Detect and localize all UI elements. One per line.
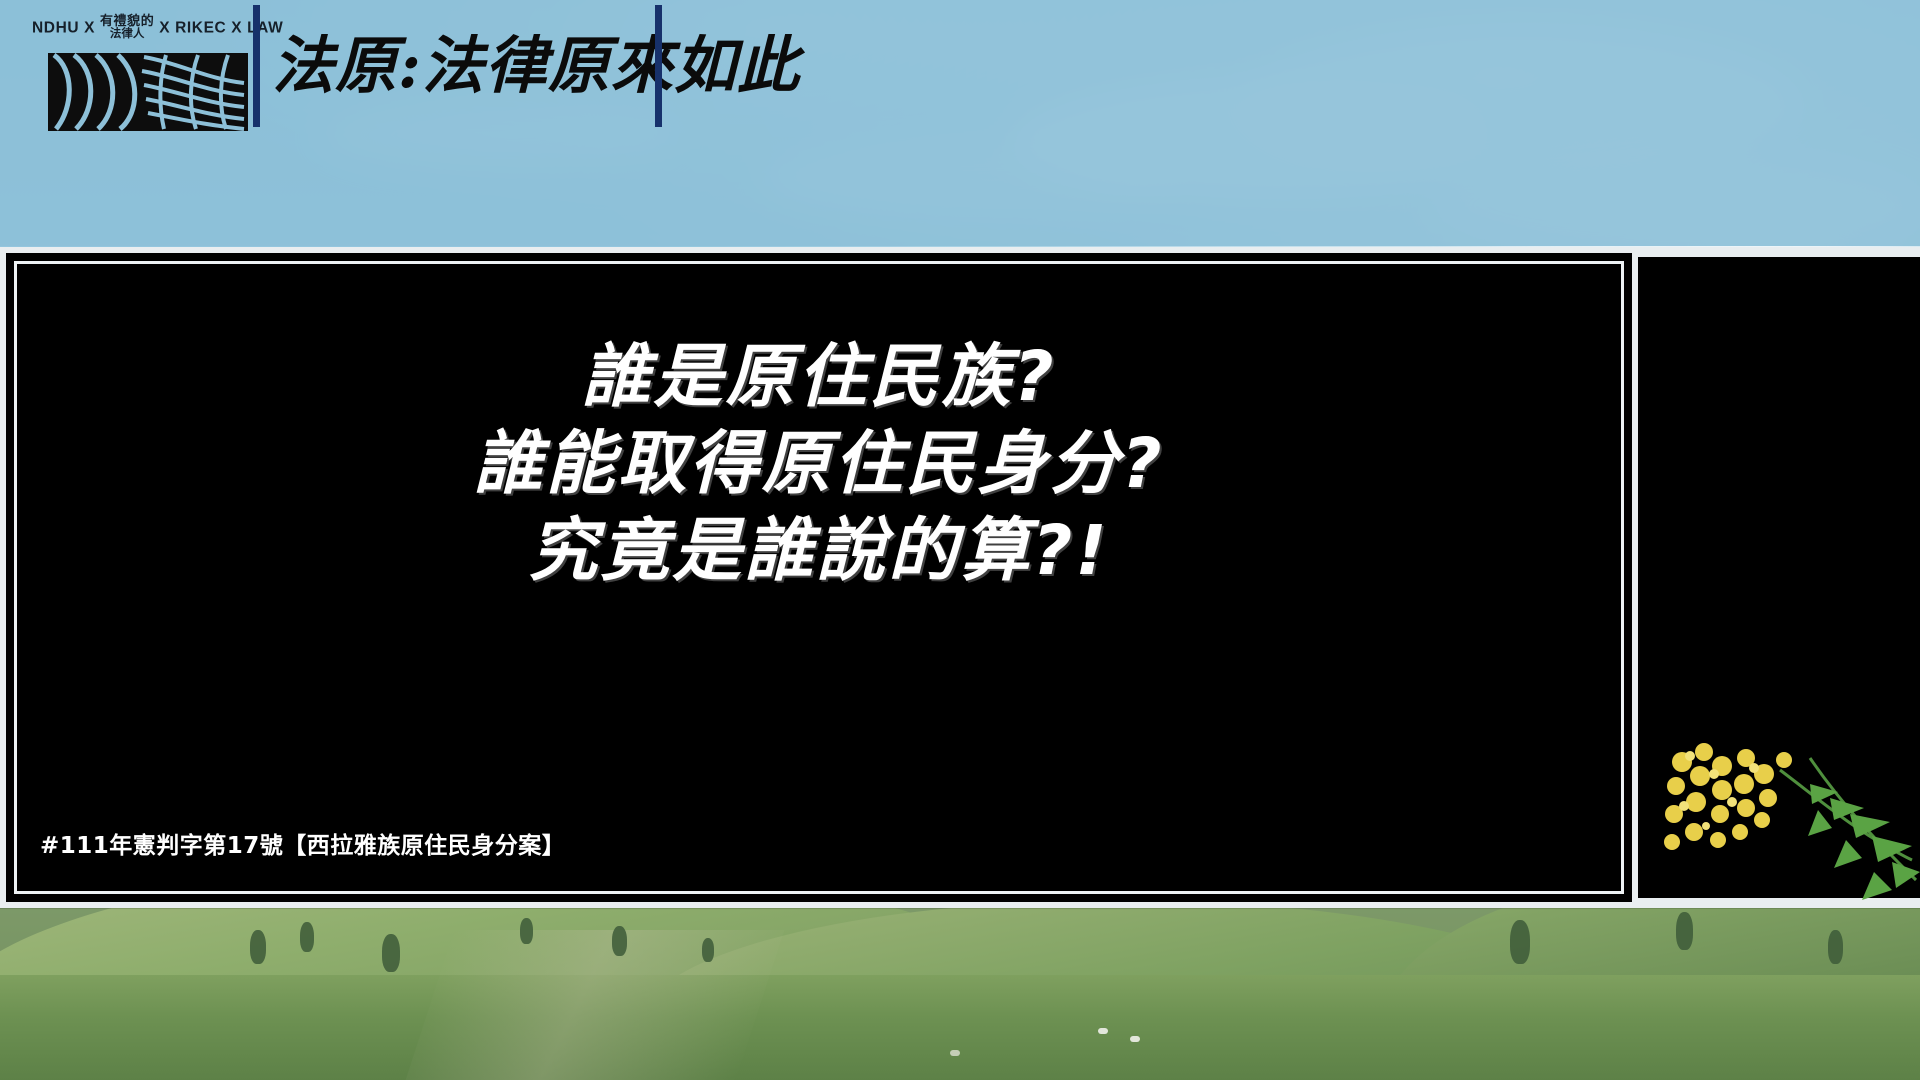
tree-icon bbox=[520, 918, 533, 944]
tree-icon bbox=[1828, 930, 1843, 964]
cow-icon bbox=[1098, 1028, 1108, 1034]
mimosa-flower-branch-icon bbox=[1660, 740, 1920, 920]
logo-credit-cjk: 有禮貌的法律人 bbox=[100, 15, 154, 40]
tree-icon bbox=[612, 926, 627, 956]
slide-root: NDHU X 有禮貌的法律人 X RIKEC X LAW bbox=[0, 0, 1920, 1080]
header-content: NDHU X 有禮貌的法律人 X RIKEC X LAW bbox=[0, 0, 1920, 150]
headline-line-3: 究竟是誰說的算?! bbox=[14, 508, 1624, 595]
logo-credit-prefix: NDHU X bbox=[32, 20, 100, 37]
tree-icon bbox=[250, 930, 266, 964]
header-band: NDHU X 有禮貌的法律人 X RIKEC X LAW bbox=[0, 0, 1920, 246]
woven-pattern-logo-icon bbox=[48, 53, 248, 131]
foreground-field bbox=[0, 975, 1920, 1080]
cow-icon bbox=[1130, 1036, 1140, 1042]
tree-icon bbox=[382, 934, 400, 972]
case-caption: #111年憲判字第17號【西拉雅族原住民身分案】 bbox=[40, 826, 565, 860]
logo-credit-cjk-bottom: 法律人 bbox=[100, 28, 154, 40]
tree-icon bbox=[702, 938, 714, 962]
logo-credit-suffix: X RIKEC X LAW bbox=[154, 20, 283, 37]
tree-icon bbox=[300, 922, 314, 952]
dirt-path bbox=[406, 930, 785, 1080]
logo-credit-line: NDHU X 有禮貌的法律人 X RIKEC X LAW bbox=[32, 16, 247, 50]
logo-block: NDHU X 有禮貌的法律人 X RIKEC X LAW bbox=[22, 18, 234, 128]
headline-block: 誰是原住民族? 誰能取得原住民身分? 究竟是誰說的算?! bbox=[14, 290, 1624, 595]
title-divider-right bbox=[655, 5, 662, 127]
headline-line-2: 誰能取得原住民身分? bbox=[14, 421, 1624, 508]
tree-icon bbox=[1510, 920, 1530, 964]
cow-icon bbox=[950, 1050, 960, 1056]
title-divider-left bbox=[253, 5, 260, 127]
page-title: 法原:法律原來如此 bbox=[272, 26, 800, 106]
headline-line-1: 誰是原住民族? bbox=[14, 290, 1624, 421]
